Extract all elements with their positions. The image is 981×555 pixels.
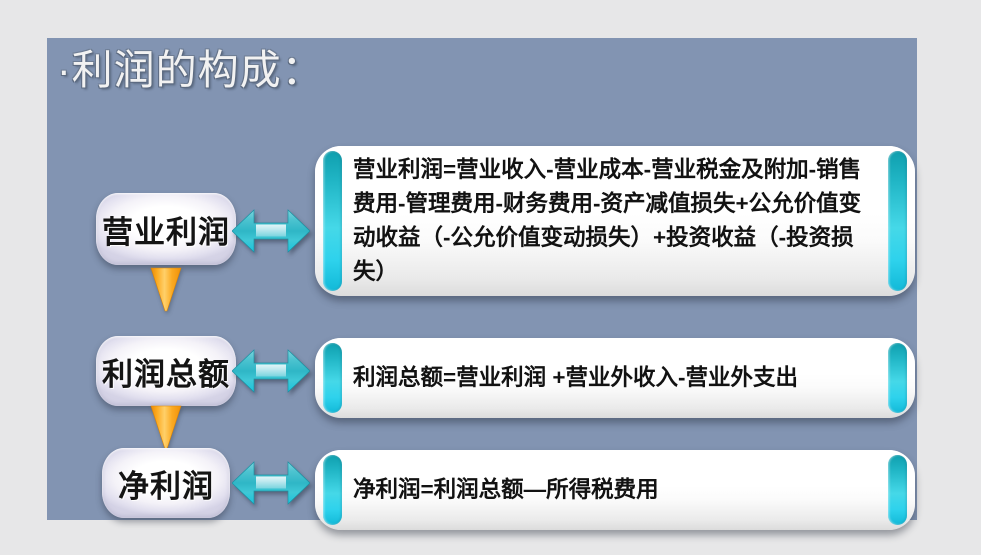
cyan-bar-left-icon	[323, 151, 342, 291]
cyan-bar-left-icon	[323, 343, 342, 413]
slide-canvas: ·利润的构成： 营业利润	[0, 0, 981, 555]
label-pill-operating-profit[interactable]: 营业利润	[96, 193, 236, 265]
double-arrow-horizontal-icon-3	[232, 460, 310, 506]
cyan-bar-right-icon	[888, 455, 907, 525]
label-pill-text: 净利润	[118, 461, 214, 506]
cyan-bar-left-icon	[323, 455, 342, 525]
content-panel: ·利润的构成： 营业利润	[47, 38, 917, 520]
label-pill-total-profit[interactable]: 利润总额	[96, 336, 236, 406]
formula-text: 营业利润=营业收入-营业成本-营业税金及附加-销售费用-管理费用-财务费用-资产…	[353, 153, 877, 289]
page-title: ·利润的构成：	[57, 44, 324, 96]
down-arrow-icon-2	[149, 404, 183, 450]
formula-box-net-profit: 净利润=利润总额—所得税费用	[315, 450, 915, 530]
label-pill-text: 利润总额	[102, 349, 230, 394]
formula-text: 净利润=利润总额—所得税费用	[353, 473, 877, 507]
label-pill-net-profit[interactable]: 净利润	[102, 448, 230, 518]
double-arrow-horizontal-icon-2	[232, 348, 310, 394]
cyan-bar-right-icon	[888, 151, 907, 291]
formula-box-operating-profit: 营业利润=营业收入-营业成本-营业税金及附加-销售费用-管理费用-财务费用-资产…	[315, 146, 915, 296]
label-pill-text: 营业利润	[102, 207, 230, 252]
cyan-bar-right-icon	[888, 343, 907, 413]
formula-text: 利润总额=营业利润 +营业外收入-营业外支出	[353, 361, 877, 395]
formula-box-total-profit: 利润总额=营业利润 +营业外收入-营业外支出	[315, 338, 915, 418]
double-arrow-horizontal-icon-1	[232, 208, 310, 254]
down-arrow-icon-1	[149, 266, 183, 312]
